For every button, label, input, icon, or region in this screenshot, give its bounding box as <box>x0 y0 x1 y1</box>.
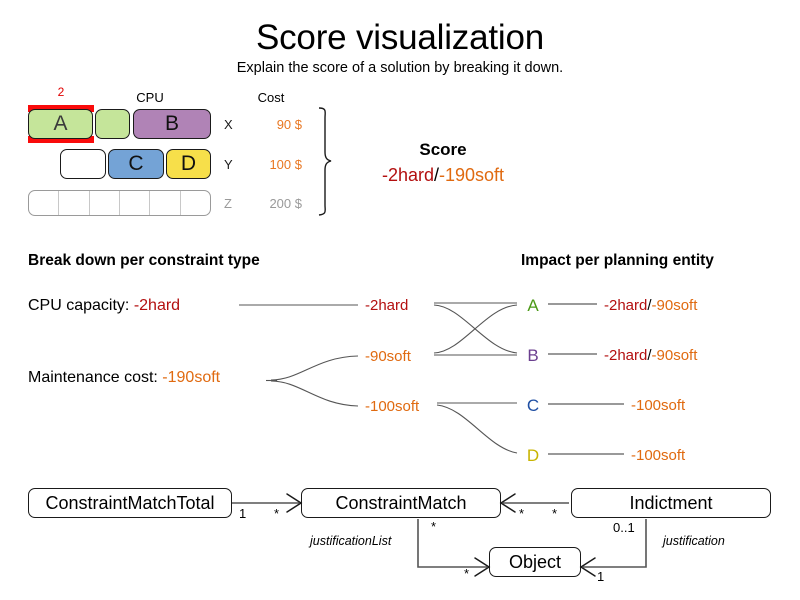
constraint-label: CPU capacity: <box>28 297 134 314</box>
page-title: Score visualization <box>0 18 800 58</box>
match-entity-connectors <box>434 303 517 453</box>
uml-class-name: ConstraintMatch <box>335 493 466 514</box>
constraint-connectors <box>239 305 358 406</box>
machine-box-b[interactable]: B <box>133 109 211 139</box>
grid-cell <box>120 191 150 215</box>
link-maint-to-100soft <box>271 381 358 406</box>
impact-hard: -2hard <box>604 297 647 314</box>
grid-cell <box>29 191 59 215</box>
uml-class-object[interactable]: Object <box>489 547 581 577</box>
machine-box-a[interactable]: A <box>28 109 93 139</box>
entity-letter-a[interactable]: A <box>524 296 542 316</box>
uml-role-justification-list: justificationList <box>310 534 391 548</box>
entity-impact-a[interactable]: -2hard/-90soft <box>604 297 697 314</box>
uml-class-constraint-match[interactable]: ConstraintMatch <box>301 488 501 518</box>
grid-cell <box>90 191 120 215</box>
arrowhead-cm <box>287 494 301 512</box>
constraint-cpu-capacity[interactable]: CPU capacity: -2hard <box>28 297 180 315</box>
machine-box-label: A <box>53 112 67 136</box>
uml-mult-cm-many: * <box>274 506 279 521</box>
uml-class-name: ConstraintMatchTotal <box>45 493 214 514</box>
link-90soft-to-a <box>434 305 517 353</box>
uml-mult-cm-to-obj: * <box>464 566 469 581</box>
score-value: -2hard/-190soft <box>330 165 556 186</box>
entity-letter-c[interactable]: C <box>524 396 542 416</box>
entity-letter-b[interactable]: B <box>524 346 542 366</box>
grid-cell <box>181 191 210 215</box>
machine-row-cost-y: 100 $ <box>246 157 302 172</box>
machine-row-cost-z: 200 $ <box>246 196 302 211</box>
entity-impact-b[interactable]: -2hard/-90soft <box>604 347 697 364</box>
overflow-badge: 2 <box>28 85 94 99</box>
link-100soft-to-d <box>437 405 517 453</box>
uml-role-justification: justification <box>663 534 725 548</box>
machine-box-spare-x[interactable] <box>95 109 130 139</box>
machine-box-label: B <box>165 112 179 136</box>
uml-class-name: Object <box>509 552 561 573</box>
match-value-1[interactable]: -90soft <box>365 348 411 365</box>
match-value-0[interactable]: -2hard <box>365 297 408 314</box>
uml-class-name: Indictment <box>629 493 712 514</box>
constraint-value: -2hard <box>134 297 180 314</box>
score-title: Score <box>348 140 538 160</box>
machine-box-c[interactable]: C <box>108 149 164 179</box>
machine-row-name-z: Z <box>224 196 242 211</box>
uml-mult-ind-to-cm-dst: * <box>552 506 557 521</box>
machine-box-spare-y[interactable] <box>60 149 106 179</box>
uml-mult-ind-zero-one: 0..1 <box>613 520 635 535</box>
constraint-value: -190soft <box>162 369 220 386</box>
uml-mult-cmt-one: 1 <box>239 506 246 521</box>
impact-soft: -100soft <box>631 397 685 414</box>
breakdown-right-heading: Impact per planning entity <box>521 252 714 270</box>
constraint-maintenance-cost[interactable]: Maintenance cost: -190soft <box>28 369 220 387</box>
uml-class-indictment[interactable]: Indictment <box>571 488 771 518</box>
match-value-2[interactable]: -100soft <box>365 398 419 415</box>
arrowhead-obj-right <box>581 558 595 576</box>
entity-impact-d[interactable]: -100soft <box>631 447 685 464</box>
arrowhead-cm-left <box>501 494 515 512</box>
score-brace <box>319 108 331 215</box>
machine-row-name-x: X <box>224 117 242 132</box>
entity-letter-d[interactable]: D <box>524 446 542 466</box>
cost-column-header: Cost <box>236 90 306 105</box>
score-soft: -190soft <box>439 165 504 185</box>
grid-cell <box>150 191 180 215</box>
uml-class-constraint-match-total[interactable]: ConstraintMatchTotal <box>28 488 232 518</box>
machine-box-label: C <box>128 152 143 176</box>
arrowhead-obj-left <box>475 558 489 576</box>
machine-box-d[interactable]: D <box>166 149 211 179</box>
entity-impact-connectors <box>548 304 624 454</box>
uml-link-cm-obj <box>418 519 487 567</box>
uml-mult-cm-to-obj-near: * <box>431 519 436 534</box>
grid-cell <box>59 191 89 215</box>
link-maint-to-90soft <box>271 356 358 380</box>
cpu-column-header: CPU <box>108 90 192 105</box>
impact-soft: -90soft <box>652 347 698 364</box>
constraint-label: Maintenance cost: <box>28 369 162 386</box>
uml-mult-obj-one: 1 <box>597 569 604 584</box>
uml-mult-ind-to-cm-src: * <box>519 506 524 521</box>
impact-soft: -100soft <box>631 447 685 464</box>
machine-row-z-grid[interactable] <box>28 190 211 216</box>
entity-impact-c[interactable]: -100soft <box>631 397 685 414</box>
machine-row-cost-x: 90 $ <box>246 117 302 132</box>
breakdown-left-heading: Break down per constraint type <box>28 252 260 270</box>
page-subtitle: Explain the score of a solution by break… <box>0 60 800 76</box>
impact-soft: -90soft <box>652 297 698 314</box>
machine-box-label: D <box>181 152 196 176</box>
impact-hard: -2hard <box>604 347 647 364</box>
machine-row-name-y: Y <box>224 157 242 172</box>
score-hard: -2hard <box>382 165 434 185</box>
link-2hard-to-b <box>434 305 517 353</box>
